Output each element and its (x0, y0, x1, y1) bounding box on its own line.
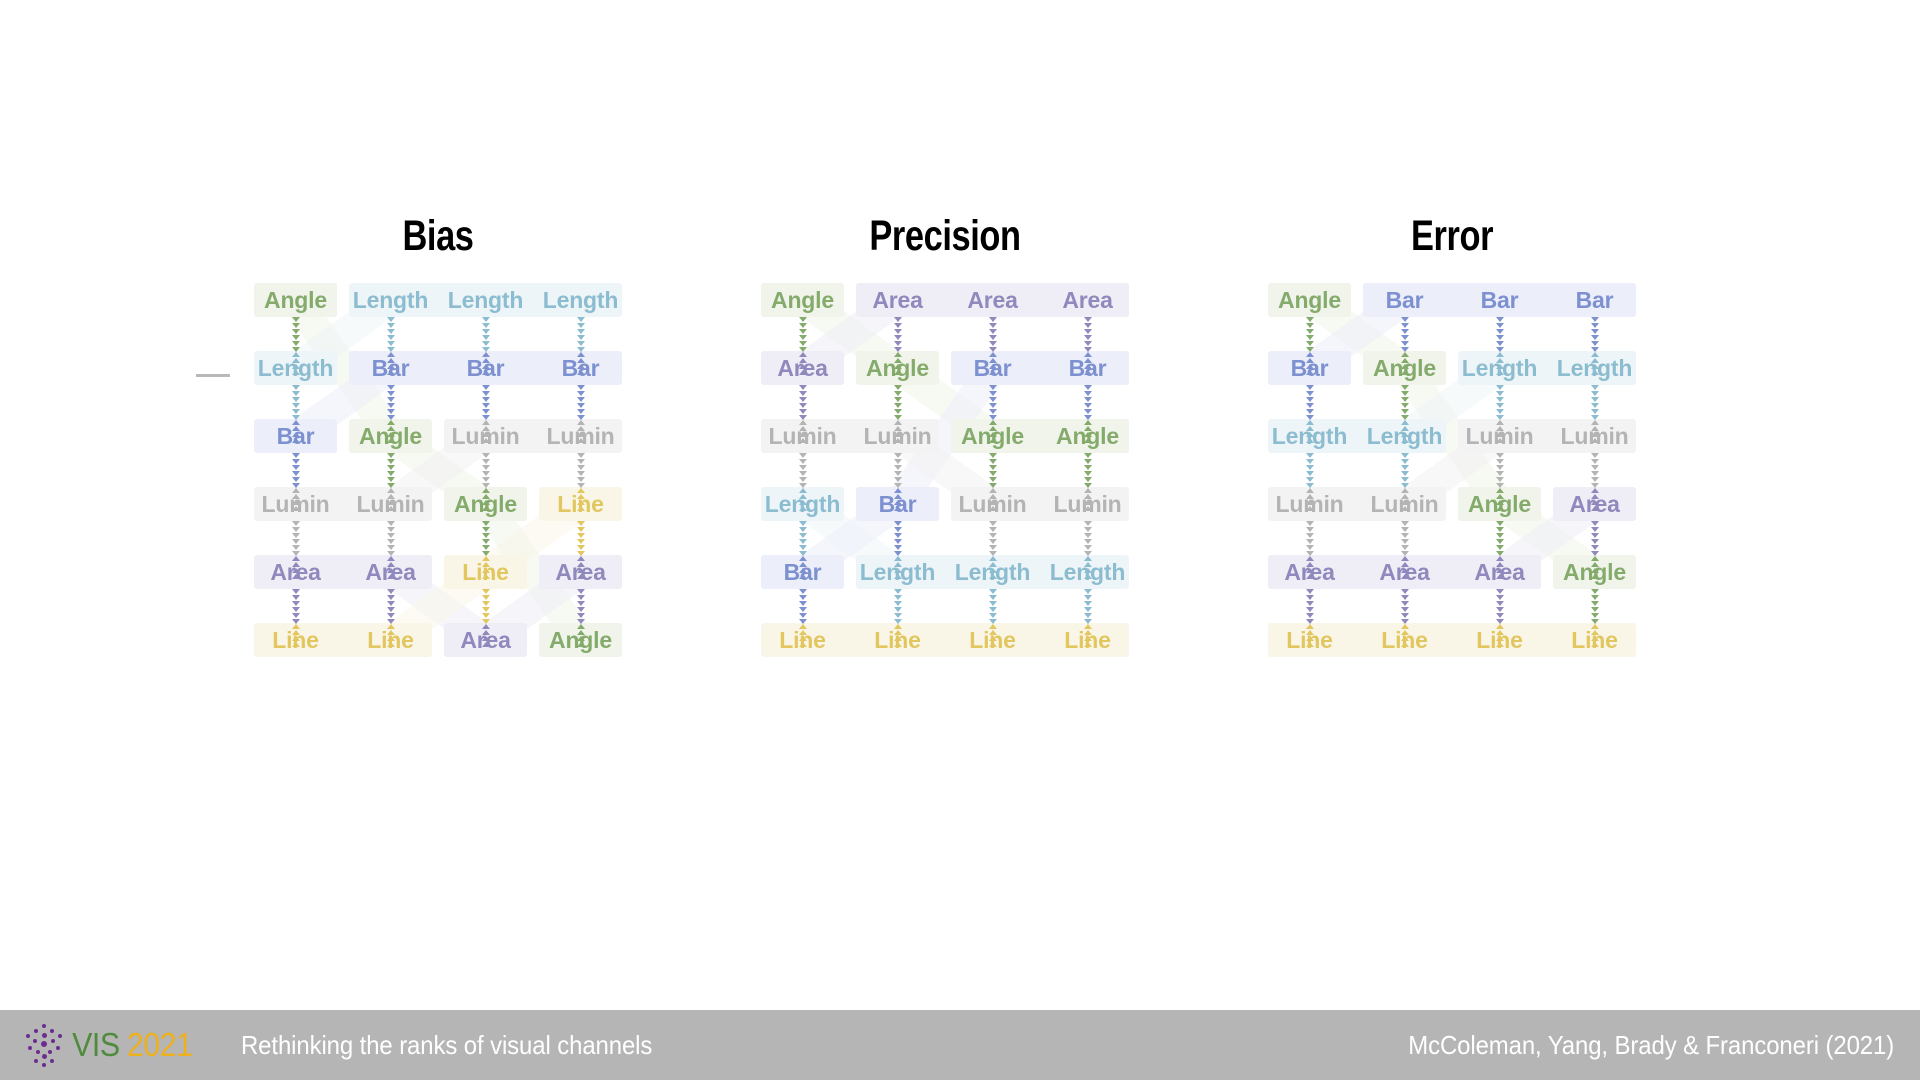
connector-arrow-down-icon (1084, 323, 1092, 328)
vis-logo-year: 2021 (127, 1026, 193, 1064)
connector-arrow-down-icon (894, 601, 902, 606)
rank-connector (986, 521, 1000, 555)
channel-label: Bar (945, 351, 1040, 385)
rank-row: AngleLengthLengthLength (248, 283, 628, 317)
rank-row: LengthBarBarBar (248, 351, 628, 385)
connector-arrow-down-icon (1496, 589, 1504, 594)
channel-label: Area (248, 555, 343, 589)
channel-label: Length (248, 351, 343, 385)
rank-connector (796, 317, 810, 351)
rank-grid-bias: AngleLengthLengthLengthLengthBarBarBarBa… (248, 283, 628, 657)
connector-arrow-down-icon (292, 385, 300, 390)
rank-connector (1398, 317, 1412, 351)
connector-arrow-down-icon (799, 409, 807, 414)
channel-label: Length (850, 555, 945, 589)
channel-label: Area (1262, 555, 1357, 589)
connector-arrow-down-icon (1591, 465, 1599, 470)
rank-row: LineLineLineLine (1262, 623, 1642, 657)
connector-arrow-down-icon (1401, 477, 1409, 482)
channel-label: Length (1040, 555, 1135, 589)
connector-arrow-down-icon (1496, 471, 1504, 476)
connector-arrow-down-icon (1084, 385, 1092, 390)
connector-arrow-down-icon (1591, 527, 1599, 532)
connector-arrow-down-icon (799, 397, 807, 402)
rank-connector (1303, 385, 1317, 419)
rank-connector (1493, 385, 1507, 419)
connector-arrow-down-icon (387, 459, 395, 464)
connector-arrow-down-icon (292, 465, 300, 470)
rank-connector (986, 453, 1000, 487)
connector-arrow-down-icon (292, 607, 300, 612)
connector-arrow-down-icon (387, 613, 395, 618)
connector-arrow-down-icon (292, 545, 300, 550)
connector-arrow-down-icon (292, 589, 300, 594)
channel-label: Angle (755, 283, 850, 317)
connector-arrow-down-icon (799, 521, 807, 526)
connector-arrow-down-icon (292, 601, 300, 606)
connector-arrow-down-icon (1306, 317, 1314, 322)
connector-arrow-down-icon (1496, 613, 1504, 618)
connector-arrow-down-icon (482, 397, 490, 402)
connector-arrow-down-icon (894, 465, 902, 470)
rank-connector (1081, 385, 1095, 419)
connector-arrow-down-icon (292, 459, 300, 464)
channel-label: Area (1357, 555, 1452, 589)
connector-arrow-down-icon (894, 385, 902, 390)
connector-arrow-down-icon (482, 341, 490, 346)
connector-arrow-down-icon (799, 533, 807, 538)
connector-arrow-down-icon (1496, 335, 1504, 340)
channel-label: Line (248, 623, 343, 657)
connector-arrow-down-icon (1496, 409, 1504, 414)
rank-connector (384, 385, 398, 419)
connector-arrow-down-icon (894, 533, 902, 538)
connector-arrow-down-icon (989, 471, 997, 476)
connector-arrow-down-icon (292, 613, 300, 618)
rank-connector (1081, 317, 1095, 351)
channel-label: Area (850, 283, 945, 317)
connector-arrow-down-icon (1401, 539, 1409, 544)
channel-label: Angle (1357, 351, 1452, 385)
connector-arrow-down-icon (387, 323, 395, 328)
connector-arrow-down-icon (799, 527, 807, 532)
slide-canvas: BiasAngleLengthLengthLengthLengthBarBarB… (0, 0, 1920, 1080)
connector-arrow-down-icon (1496, 323, 1504, 328)
connector-arrow-down-icon (1591, 391, 1599, 396)
connector-arrow-down-icon (894, 391, 902, 396)
connector-arrow-down-icon (482, 403, 490, 408)
connector-arrow-down-icon (292, 595, 300, 600)
connector-arrow-down-icon (1591, 545, 1599, 550)
connector-arrow-down-icon (387, 335, 395, 340)
connector-arrow-down-icon (1084, 471, 1092, 476)
connector-arrow-down-icon (1496, 329, 1504, 334)
connector-arrow-down-icon (577, 391, 585, 396)
connector-arrow-down-icon (1306, 613, 1314, 618)
connector-arrow-down-icon (1084, 391, 1092, 396)
connector-arrow-down-icon (989, 397, 997, 402)
channel-label: Length (343, 283, 438, 317)
connector-arrow-down-icon (1591, 477, 1599, 482)
connector-arrow-down-icon (292, 323, 300, 328)
connector-arrow-down-icon (1084, 521, 1092, 526)
connector-arrow-down-icon (482, 545, 490, 550)
connector-arrow-down-icon (387, 521, 395, 526)
rank-connector (1081, 453, 1095, 487)
connector-arrow-down-icon (482, 477, 490, 482)
connector-arrow-down-icon (292, 453, 300, 458)
connector-arrow-down-icon (1496, 607, 1504, 612)
connector-arrow-down-icon (292, 521, 300, 526)
connector-arrow-down-icon (1591, 601, 1599, 606)
rank-connector (1081, 521, 1095, 555)
connector-arrow-down-icon (989, 595, 997, 600)
connector-arrow-down-icon (1496, 391, 1504, 396)
connector-arrow-down-icon (799, 459, 807, 464)
rank-connector (289, 385, 303, 419)
connector-arrow-down-icon (989, 317, 997, 322)
connector-arrow-down-icon (292, 409, 300, 414)
connector-arrow-down-icon (989, 459, 997, 464)
rank-row: AngleBarBarBar (1262, 283, 1642, 317)
channel-label: Angle (343, 419, 438, 453)
connector-arrow-down-icon (387, 607, 395, 612)
channel-label: Angle (1262, 283, 1357, 317)
connector-arrow-down-icon (577, 471, 585, 476)
connector-arrow-down-icon (1401, 453, 1409, 458)
channel-label: Lumin (945, 487, 1040, 521)
connector-arrow-down-icon (799, 341, 807, 346)
channel-label: Angle (945, 419, 1040, 453)
rank-connector (986, 385, 1000, 419)
channel-label: Area (533, 555, 628, 589)
panel-bias: BiasAngleLengthLengthLengthLengthBarBarB… (248, 215, 628, 657)
rank-connector (289, 453, 303, 487)
channel-label: Lumin (533, 419, 628, 453)
connector-arrow-down-icon (292, 341, 300, 346)
rank-connector (796, 521, 810, 555)
connector-arrow-down-icon (799, 465, 807, 470)
rank-connector (574, 317, 588, 351)
rank-row: LuminLuminAngleArea (1262, 487, 1642, 521)
connector-arrow-down-icon (1084, 335, 1092, 340)
channel-label: Length (438, 283, 533, 317)
connector-arrow-down-icon (1496, 385, 1504, 390)
rank-connector (891, 385, 905, 419)
connector-arrow-down-icon (292, 527, 300, 532)
connector-arrow-down-icon (1591, 459, 1599, 464)
channel-label: Length (1262, 419, 1357, 453)
connector-arrow-down-icon (577, 453, 585, 458)
channel-label: Bar (850, 487, 945, 521)
rank-connector (574, 385, 588, 419)
rank-connector (1398, 385, 1412, 419)
connector-arrow-down-icon (577, 613, 585, 618)
connector-arrow-down-icon (577, 317, 585, 322)
connector-arrow-down-icon (1306, 527, 1314, 532)
connector-arrow-down-icon (1306, 601, 1314, 606)
connector-arrow-down-icon (482, 589, 490, 594)
channel-label: Line (1262, 623, 1357, 657)
connector-arrow-down-icon (292, 397, 300, 402)
rank-connector (796, 385, 810, 419)
connector-arrow-down-icon (1084, 329, 1092, 334)
connector-arrow-down-icon (989, 477, 997, 482)
axis-tick-mark (196, 374, 230, 377)
rank-row: LineLineLineLine (755, 623, 1135, 657)
connector-arrow-down-icon (387, 341, 395, 346)
channel-label: Area (1040, 283, 1135, 317)
connector-arrow-down-icon (482, 471, 490, 476)
connector-arrow-down-icon (482, 465, 490, 470)
vis-logo-text: VIS (72, 1026, 120, 1064)
rank-connector (796, 589, 810, 623)
rank-connector (1398, 589, 1412, 623)
channel-label: Lumin (1040, 487, 1135, 521)
channel-label: Line (945, 623, 1040, 657)
channel-label: Line (438, 555, 533, 589)
connector-arrow-down-icon (1306, 391, 1314, 396)
connector-arrow-down-icon (989, 323, 997, 328)
connector-arrow-down-icon (799, 545, 807, 550)
connector-arrow-down-icon (1591, 471, 1599, 476)
channel-label: Angle (1040, 419, 1135, 453)
rank-connector (384, 317, 398, 351)
rank-connector (1081, 589, 1095, 623)
connector-arrow-down-icon (1591, 335, 1599, 340)
rank-row: AreaAreaAreaAngle (1262, 555, 1642, 589)
connector-arrow-down-icon (894, 589, 902, 594)
connector-arrow-down-icon (799, 385, 807, 390)
connector-arrow-down-icon (894, 613, 902, 618)
rank-grid-precision: AngleAreaAreaAreaAreaAngleBarBarLuminLum… (755, 283, 1135, 657)
connector-arrow-down-icon (577, 329, 585, 334)
connector-arrow-down-icon (894, 521, 902, 526)
connector-arrow-down-icon (577, 521, 585, 526)
connector-arrow-down-icon (799, 601, 807, 606)
connector-arrow-down-icon (1401, 521, 1409, 526)
connector-arrow-down-icon (387, 589, 395, 594)
connector-arrow-down-icon (1084, 453, 1092, 458)
connector-arrow-down-icon (577, 607, 585, 612)
connector-arrow-down-icon (482, 317, 490, 322)
channel-label: Line (850, 623, 945, 657)
connector-arrow-down-icon (577, 527, 585, 532)
connector-arrow-down-icon (1084, 397, 1092, 402)
channel-label: Line (343, 623, 438, 657)
connector-arrow-down-icon (799, 453, 807, 458)
connector-arrow-down-icon (1591, 403, 1599, 408)
connector-arrow-down-icon (1591, 409, 1599, 414)
connector-arrow-down-icon (799, 329, 807, 334)
connector-arrow-down-icon (1591, 589, 1599, 594)
connector-arrow-down-icon (1084, 465, 1092, 470)
rank-connector (479, 317, 493, 351)
panel-title-bias: Bias (286, 215, 590, 258)
connector-arrow-down-icon (1591, 385, 1599, 390)
rank-grid-error: AngleBarBarBarBarAngleLengthLengthLength… (1262, 283, 1642, 657)
connector-arrow-down-icon (292, 317, 300, 322)
connector-arrow-down-icon (292, 533, 300, 538)
connector-arrow-down-icon (1591, 453, 1599, 458)
connector-arrow-down-icon (1401, 323, 1409, 328)
connector-arrow-down-icon (482, 527, 490, 532)
connector-arrow-down-icon (1084, 589, 1092, 594)
connector-arrow-down-icon (387, 595, 395, 600)
connector-arrow-down-icon (482, 459, 490, 464)
rank-connector (1493, 521, 1507, 555)
connector-arrow-down-icon (989, 385, 997, 390)
rank-connector (479, 521, 493, 555)
connector-arrow-down-icon (1591, 595, 1599, 600)
connector-arrow-down-icon (482, 391, 490, 396)
connector-arrow-down-icon (1496, 601, 1504, 606)
connector-arrow-down-icon (799, 403, 807, 408)
channel-label: Bar (1547, 283, 1642, 317)
connector-arrow-down-icon (1401, 329, 1409, 334)
rank-connector (1588, 453, 1602, 487)
connector-arrow-down-icon (894, 545, 902, 550)
channel-label: Angle (850, 351, 945, 385)
connector-arrow-down-icon (989, 521, 997, 526)
rank-connector (384, 521, 398, 555)
connector-arrow-down-icon (799, 613, 807, 618)
rank-row: LineLineAreaAngle (248, 623, 628, 657)
connector-arrow-down-icon (577, 335, 585, 340)
connector-arrow-down-icon (989, 589, 997, 594)
connector-arrow-down-icon (482, 323, 490, 328)
channel-label: Length (755, 487, 850, 521)
connector-arrow-down-icon (1401, 335, 1409, 340)
connector-arrow-down-icon (577, 539, 585, 544)
connector-arrow-down-icon (894, 409, 902, 414)
channel-label: Bar (438, 351, 533, 385)
connector-arrow-down-icon (1496, 533, 1504, 538)
connector-arrow-down-icon (387, 471, 395, 476)
connector-arrow-down-icon (894, 607, 902, 612)
connector-arrow-down-icon (482, 453, 490, 458)
connector-arrow-down-icon (799, 477, 807, 482)
connector-arrow-down-icon (292, 403, 300, 408)
rank-connector (479, 453, 493, 487)
connector-arrow-down-icon (387, 385, 395, 390)
connector-arrow-down-icon (387, 545, 395, 550)
connector-arrow-down-icon (387, 409, 395, 414)
rank-row: LuminLuminAngleLine (248, 487, 628, 521)
connector-arrow-down-icon (1496, 539, 1504, 544)
connector-arrow-down-icon (1084, 341, 1092, 346)
rank-connector (1493, 453, 1507, 487)
channel-label: Bar (1040, 351, 1135, 385)
connector-arrow-down-icon (387, 397, 395, 402)
connector-arrow-down-icon (989, 391, 997, 396)
rank-row: LuminLuminAngleAngle (755, 419, 1135, 453)
connector-arrow-down-icon (387, 391, 395, 396)
connector-arrow-down-icon (1306, 329, 1314, 334)
connector-arrow-down-icon (1084, 539, 1092, 544)
channel-label: Area (945, 283, 1040, 317)
channel-label: Bar (1452, 283, 1547, 317)
channel-label: Angle (533, 623, 628, 657)
connector-arrow-down-icon (989, 527, 997, 532)
connector-arrow-down-icon (799, 589, 807, 594)
connector-arrow-down-icon (1591, 323, 1599, 328)
connector-arrow-down-icon (482, 409, 490, 414)
connector-arrow-down-icon (1306, 465, 1314, 470)
rank-connector (479, 385, 493, 419)
rank-connector (1588, 317, 1602, 351)
connector-arrow-down-icon (1496, 459, 1504, 464)
connector-arrow-down-icon (1496, 341, 1504, 346)
connector-arrow-down-icon (1591, 329, 1599, 334)
connector-arrow-down-icon (1496, 453, 1504, 458)
connector-arrow-down-icon (1401, 607, 1409, 612)
connector-arrow-down-icon (1306, 589, 1314, 594)
connector-arrow-down-icon (799, 335, 807, 340)
connector-arrow-down-icon (1306, 409, 1314, 414)
connector-arrow-down-icon (482, 521, 490, 526)
connector-arrow-down-icon (387, 403, 395, 408)
connector-arrow-down-icon (1401, 459, 1409, 464)
rank-connector (1588, 589, 1602, 623)
connector-arrow-down-icon (894, 335, 902, 340)
channel-label: Lumin (755, 419, 850, 453)
connector-arrow-down-icon (577, 465, 585, 470)
connector-arrow-down-icon (799, 323, 807, 328)
channel-label: Angle (438, 487, 533, 521)
rank-connector (1588, 521, 1602, 555)
connector-arrow-down-icon (1401, 595, 1409, 600)
rank-connector (1398, 453, 1412, 487)
channel-label: Area (438, 623, 533, 657)
connector-arrow-down-icon (292, 471, 300, 476)
channel-label: Line (533, 487, 628, 521)
connector-arrow-down-icon (1496, 403, 1504, 408)
connector-arrow-down-icon (1496, 595, 1504, 600)
channel-label: Lumin (1357, 487, 1452, 521)
panel-precision: PrecisionAngleAreaAreaAreaAreaAngleBarBa… (755, 215, 1135, 657)
connector-arrow-down-icon (1591, 397, 1599, 402)
rank-connector (1493, 589, 1507, 623)
connector-arrow-down-icon (1306, 453, 1314, 458)
connector-arrow-down-icon (989, 403, 997, 408)
channel-label: Lumin (438, 419, 533, 453)
channel-label: Angle (1452, 487, 1547, 521)
channel-label: Area (1452, 555, 1547, 589)
rank-connector (289, 521, 303, 555)
connector-arrow-down-icon (1496, 477, 1504, 482)
connector-arrow-down-icon (577, 459, 585, 464)
connector-arrow-down-icon (482, 595, 490, 600)
footer-citation: McColeman, Yang, Brady & Franconeri (202… (1408, 1030, 1894, 1061)
rank-connector (1303, 589, 1317, 623)
rank-connector (1398, 521, 1412, 555)
connector-arrow-down-icon (387, 465, 395, 470)
charts-container: BiasAngleLengthLengthLengthLengthBarBarB… (0, 0, 1920, 1010)
connector-arrow-down-icon (1401, 601, 1409, 606)
panel-title-error: Error (1300, 215, 1604, 258)
connector-arrow-down-icon (1084, 403, 1092, 408)
rank-row: AngleAreaAreaArea (755, 283, 1135, 317)
rank-row: LengthBarLuminLumin (755, 487, 1135, 521)
connector-arrow-down-icon (1306, 403, 1314, 408)
connector-arrow-down-icon (1591, 521, 1599, 526)
vis-logo-dots-icon (22, 1022, 68, 1068)
channel-label: Area (1547, 487, 1642, 521)
connector-arrow-down-icon (577, 545, 585, 550)
connector-arrow-down-icon (989, 539, 997, 544)
channel-label: Lumin (343, 487, 438, 521)
